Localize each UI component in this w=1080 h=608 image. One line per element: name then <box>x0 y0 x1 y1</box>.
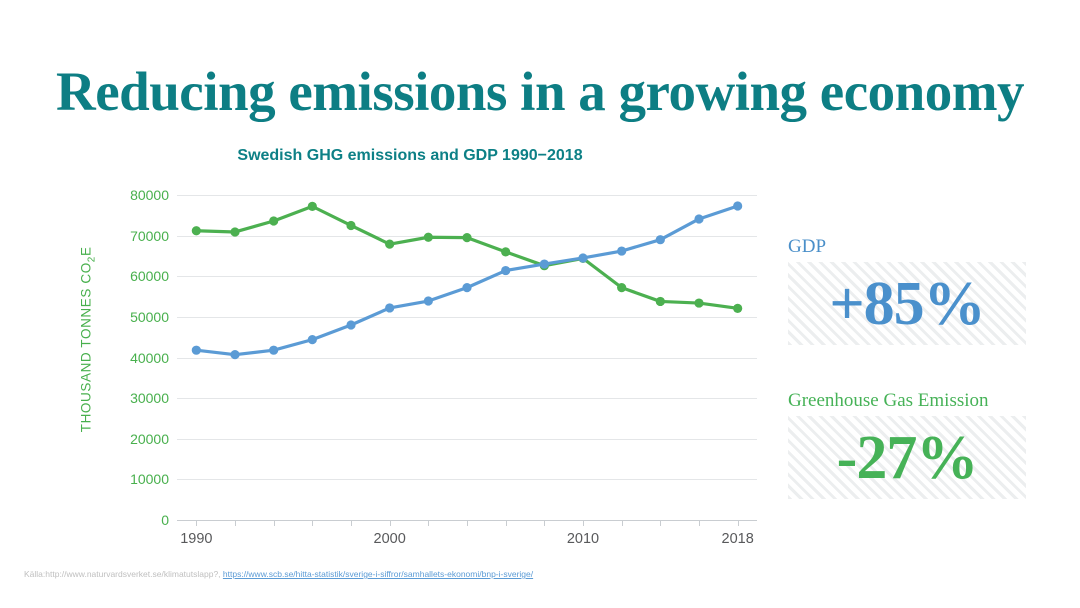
y-axis-label-text: THOUSAND TONNES CO <box>79 262 94 432</box>
callout-gdp-label: GDP <box>788 236 1026 258</box>
y-axis-tick-label: 60000 <box>105 268 169 284</box>
series-marker <box>733 304 742 313</box>
y-axis-tick-label: 20000 <box>105 431 169 447</box>
x-axis-tick-label: 2010 <box>548 531 618 547</box>
series-marker <box>656 297 665 306</box>
x-axis-tick <box>428 520 429 526</box>
x-axis-tick <box>274 520 275 526</box>
series-marker <box>578 253 587 262</box>
y-axis-tick-label: 30000 <box>105 390 169 406</box>
chart-title: Swedish GHG emissions and GDP 1990−2018 <box>60 147 760 165</box>
series-marker <box>308 335 317 344</box>
x-axis-tick <box>235 520 236 526</box>
series-marker <box>346 221 355 230</box>
series-marker <box>462 233 471 242</box>
x-axis-tick <box>196 520 197 526</box>
series-marker <box>462 283 471 292</box>
callout-ghg: Greenhouse Gas Emission -27% <box>788 390 1026 499</box>
y-axis-tick-label: 70000 <box>105 228 169 244</box>
source-prefix-text: Källa:http://www.naturvardsverket.se/kli… <box>24 569 223 579</box>
series-marker <box>501 247 510 256</box>
x-axis-tick <box>506 520 507 526</box>
page-title: Reducing emissions in a growing economy <box>40 62 1040 122</box>
series-marker <box>656 235 665 244</box>
series-marker <box>192 226 201 235</box>
chart-container: Swedish GHG emissions and GDP 1990−2018 … <box>60 140 760 560</box>
series-marker <box>346 320 355 329</box>
series-marker <box>424 233 433 242</box>
x-axis-tick <box>660 520 661 526</box>
x-axis-tick <box>544 520 545 526</box>
x-axis-tick <box>699 520 700 526</box>
y-axis-tick-label: 0 <box>105 512 169 528</box>
y-axis-tick-label: 80000 <box>105 187 169 203</box>
series-marker <box>385 240 394 249</box>
series-marker <box>192 346 201 355</box>
y-axis-tick-label: 40000 <box>105 350 169 366</box>
callout-gdp-box: +85% <box>788 262 1026 345</box>
x-axis-tick-label: 2018 <box>703 531 773 547</box>
y-axis-label-subscript: 2 <box>86 256 97 262</box>
series-marker <box>694 214 703 223</box>
series-line <box>196 206 737 355</box>
x-axis-tick <box>583 520 584 526</box>
x-axis-tick <box>390 520 391 526</box>
y-axis-tick-label: 10000 <box>105 471 169 487</box>
plot-wrap: THOUSAND TONNES CO2E 0100002000030000400… <box>60 195 760 560</box>
x-axis-tick <box>622 520 623 526</box>
callout-gdp: GDP +85% <box>788 236 1026 345</box>
source-footnote: Källa:http://www.naturvardsverket.se/kli… <box>24 569 533 580</box>
callout-gdp-value: +85% <box>829 273 984 335</box>
series-marker <box>269 346 278 355</box>
series-marker <box>694 298 703 307</box>
series-marker <box>733 201 742 210</box>
x-axis-tick <box>351 520 352 526</box>
x-axis-tick-label: 1990 <box>161 531 231 547</box>
x-axis-tick-label: 2000 <box>355 531 425 547</box>
series-marker <box>617 246 626 255</box>
callout-ghg-box: -27% <box>788 416 1026 499</box>
series-marker <box>424 296 433 305</box>
y-axis-label: THOUSAND TONNES CO2E <box>79 214 98 464</box>
x-axis-tick <box>312 520 313 526</box>
y-axis-label-suffix: E <box>79 246 94 256</box>
source-link[interactable]: https://www.scb.se/hitta-statistik/sveri… <box>223 569 533 579</box>
series-marker <box>617 283 626 292</box>
series-marker <box>230 227 239 236</box>
series-marker <box>269 216 278 225</box>
y-axis-tick-label: 50000 <box>105 309 169 325</box>
x-axis-tick <box>467 520 468 526</box>
callout-ghg-value: -27% <box>837 427 978 489</box>
series-marker <box>540 259 549 268</box>
series-marker <box>501 266 510 275</box>
chart-series-svg <box>177 195 757 520</box>
series-marker <box>308 202 317 211</box>
y-axis-tick-labels: 0100002000030000400005000060000700008000… <box>105 195 169 520</box>
callout-ghg-label: Greenhouse Gas Emission <box>788 390 1026 412</box>
series-marker <box>230 350 239 359</box>
series-marker <box>385 303 394 312</box>
x-axis-tick <box>738 520 739 526</box>
